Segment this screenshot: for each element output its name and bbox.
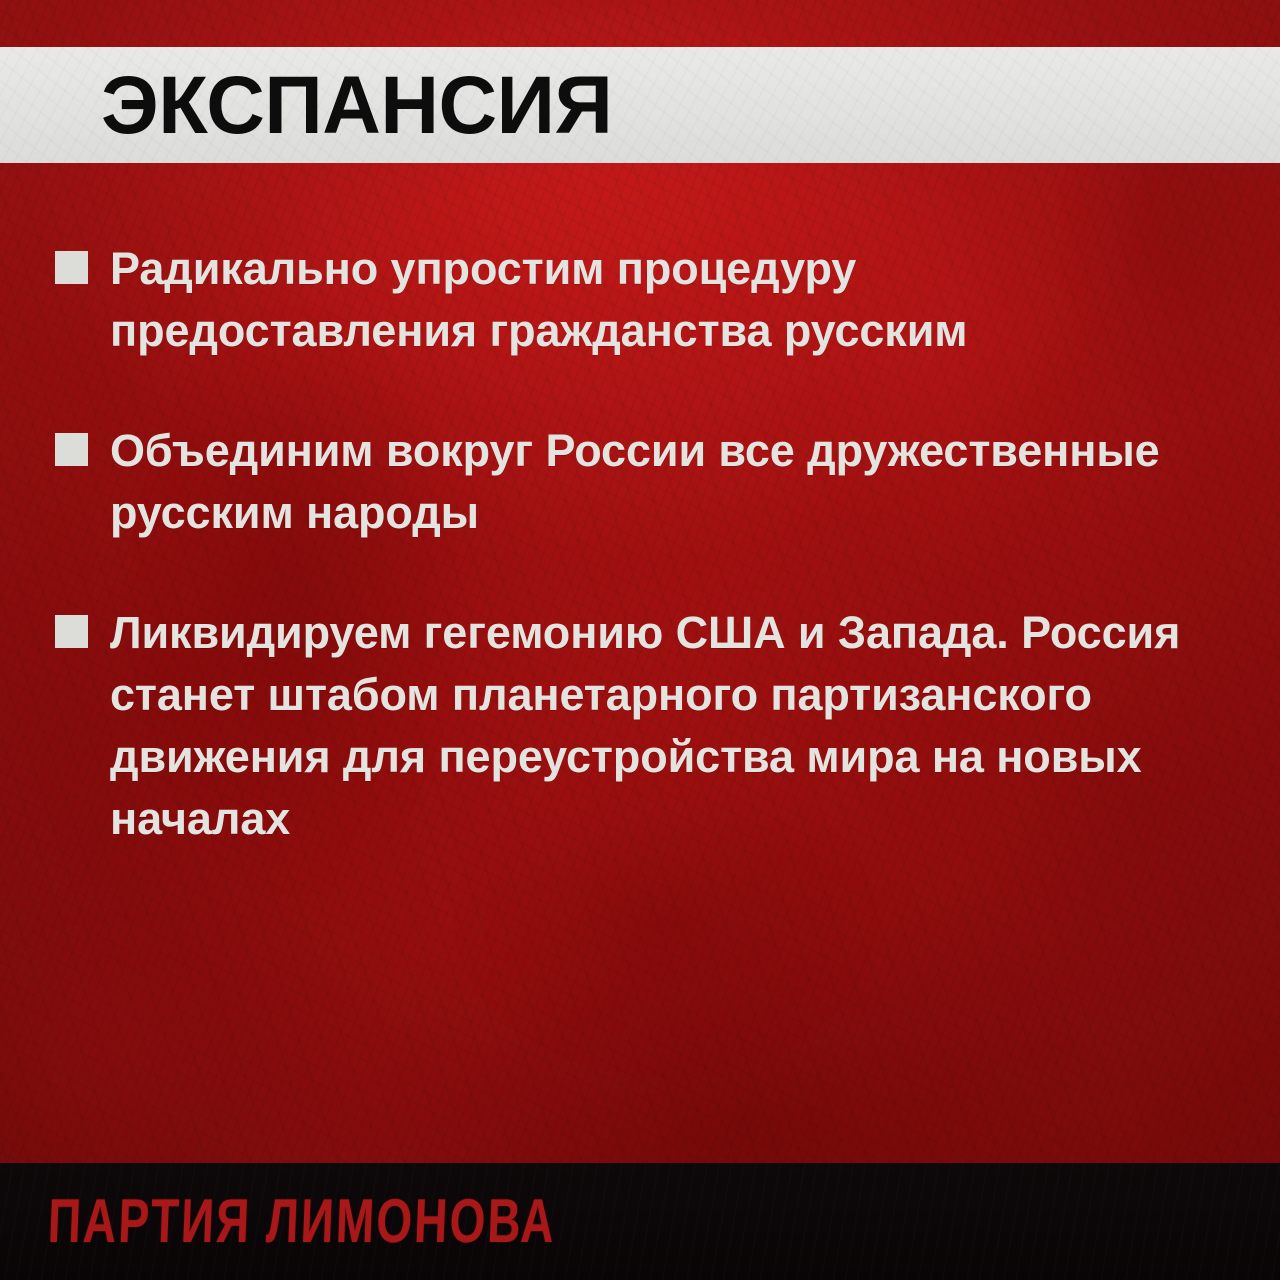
poster-canvas: ЭКСПАНСИЯ Радикально упростим процедуру … (0, 0, 1280, 1280)
square-bullet-icon (55, 615, 88, 648)
list-item: Ликвидируем гегемонию США и Запада. Росс… (55, 602, 1235, 850)
page-title: ЭКСПАНСИЯ (101, 65, 612, 147)
square-bullet-icon (55, 433, 88, 466)
list-item: Объединим вокруг России все дружественны… (55, 420, 1235, 544)
footer-bar: ПАРТИЯ ЛИМОНОВА (0, 1163, 1280, 1280)
list-item-label: Объединим вокруг России все дружественны… (110, 420, 1230, 544)
list-item: Радикально упростим процедуру предоставл… (55, 238, 1235, 362)
list-item-label: Радикально упростим процедуру предоставл… (110, 238, 1230, 362)
square-bullet-icon (55, 251, 88, 284)
list-item-label: Ликвидируем гегемонию США и Запада. Росс… (110, 602, 1230, 850)
party-logo-wordmark: ПАРТИЯ ЛИМОНОВА (47, 1191, 557, 1253)
bullet-list: Радикально упростим процедуру предоставл… (55, 238, 1235, 850)
header-band: ЭКСПАНСИЯ (0, 47, 1280, 163)
